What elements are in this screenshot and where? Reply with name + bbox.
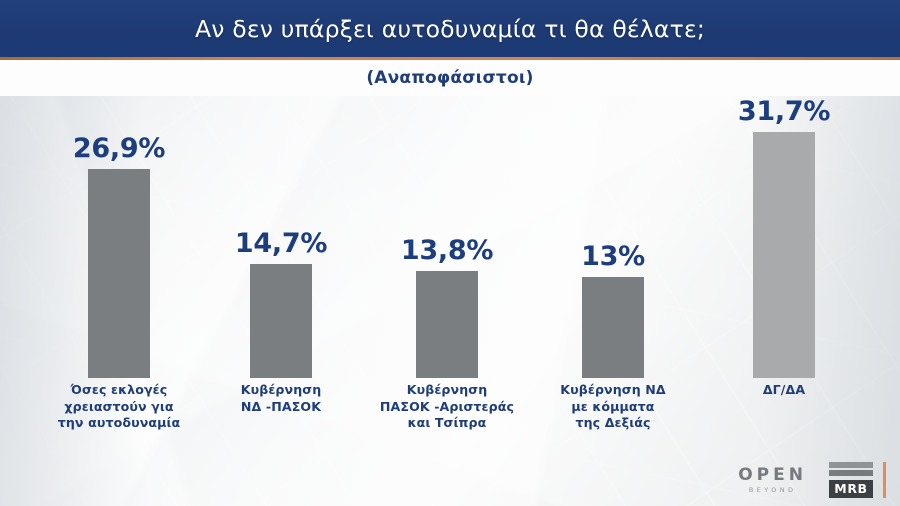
- bar-group: 31,7%: [699, 98, 869, 378]
- chart-area: 26,9%Όσες εκλογέςχρειαστούν γιατην αυτοδ…: [0, 96, 900, 506]
- open-logo-word: OPEN: [738, 467, 807, 484]
- bar-value-label: 13,8%: [401, 237, 493, 264]
- bar-value-label: 31,7%: [738, 98, 830, 125]
- poll-chart-slide: Αν δεν υπάρξει αυτοδυναμία τι θα θέλατε;…: [0, 0, 900, 506]
- bar-category-label: Κυβέρνηση ΝΔμε κόμματατης Δεξιάς: [518, 382, 708, 432]
- mrb-bar-mid-icon: [829, 470, 873, 476]
- bar-category-label-line: και Τσίπρα: [352, 415, 542, 432]
- bar-group: 13,8%: [362, 237, 532, 378]
- bar-category-label-line: την αυτοδυναμία: [24, 415, 214, 432]
- bar-category-label-line: Κυβέρνηση: [352, 382, 542, 399]
- bar-category-label-line: Κυβέρνηση: [186, 382, 376, 399]
- mrb-logo: MRB: [829, 462, 886, 498]
- bar-category-label-line: της Δεξιάς: [518, 415, 708, 432]
- bar-rect: [88, 169, 150, 378]
- bar-category-label: ΚυβέρνησηΝΔ -ΠΑΣΟΚ: [186, 382, 376, 415]
- bar-group: 26,9%: [34, 135, 204, 378]
- footer-logos: OPEN BEYOND MRB: [738, 462, 886, 498]
- mrb-accent-rule: [883, 462, 886, 498]
- bar-value-label: 26,9%: [73, 135, 165, 162]
- bar-category-label: ΔΓ/ΔΑ: [689, 382, 879, 399]
- mrb-logo-text: MRB: [829, 480, 873, 498]
- mrb-bar-top-icon: [829, 462, 873, 468]
- bar-rect: [250, 264, 312, 378]
- subtitle-band: (Αναποφάσιστοι): [0, 60, 900, 96]
- page-subtitle: (Αναποφάσιστοι): [366, 68, 533, 88]
- bar-group: 14,7%: [196, 230, 366, 378]
- open-logo-subtitle: BEYOND: [749, 487, 797, 494]
- bar-category-label-line: Κυβέρνηση ΝΔ: [518, 382, 708, 399]
- bar-rect: [416, 271, 478, 378]
- slide-header: Αν δεν υπάρξει αυτοδυναμία τι θα θέλατε;: [0, 0, 900, 57]
- bar-series: 26,9%Όσες εκλογέςχρειαστούν γιατην αυτοδ…: [0, 96, 900, 506]
- page-title: Αν δεν υπάρξει αυτοδυναμία τι θα θέλατε;: [195, 15, 705, 43]
- bar-category-label-line: ΝΔ -ΠΑΣΟΚ: [186, 399, 376, 416]
- bar-value-label: 13%: [581, 243, 645, 270]
- mrb-logo-mark: MRB: [829, 462, 873, 498]
- bar-category-label-line: ΔΓ/ΔΑ: [689, 382, 879, 399]
- bar-rect: [753, 132, 815, 378]
- bar-category-label-line: με κόμματα: [518, 399, 708, 416]
- bar-group: 13%: [528, 243, 698, 378]
- open-beyond-logo: OPEN BEYOND: [738, 467, 807, 494]
- bar-category-label: ΚυβέρνησηΠΑΣΟΚ -Αριστεράςκαι Τσίπρα: [352, 382, 542, 432]
- bar-category-label-line: ΠΑΣΟΚ -Αριστεράς: [352, 399, 542, 416]
- bar-value-label: 14,7%: [235, 230, 327, 257]
- bar-rect: [582, 277, 644, 378]
